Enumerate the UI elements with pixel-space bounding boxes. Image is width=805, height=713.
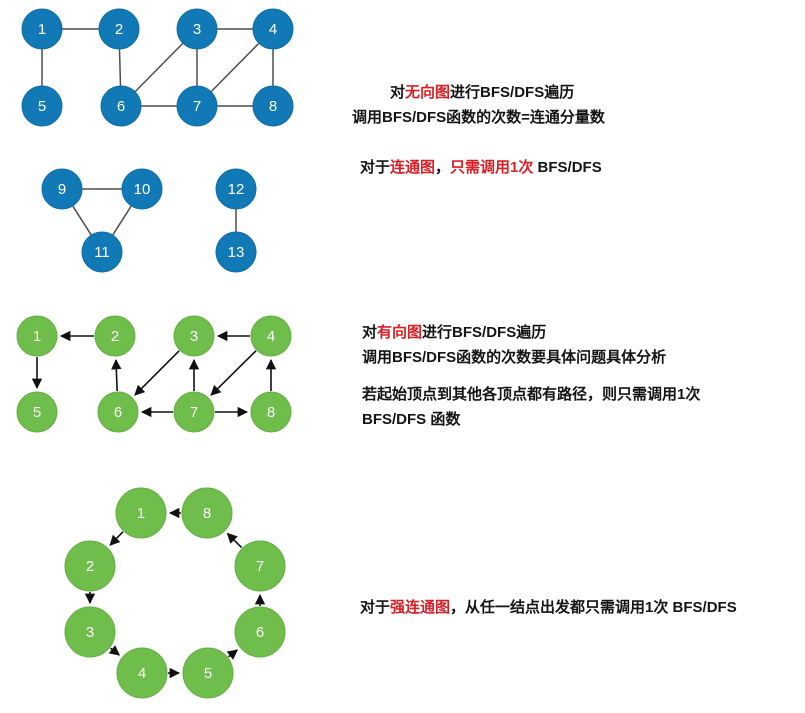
graph-node[interactable]: 4 [253,9,293,49]
note-directed-line1-post: 进行BFS/DFS遍历 [422,324,546,341]
graph-node[interactable]: 2 [99,9,139,49]
graph-node-label: 4 [138,665,146,682]
graph-node[interactable]: 11 [82,232,122,272]
note-directed-line1-highlight: 有向图 [377,324,422,341]
graph-node-label: 8 [203,505,211,522]
graph-edge [116,360,117,391]
graph-node-label: 4 [267,328,275,345]
graph-node-label: 11 [94,244,110,261]
graph-node-label: 10 [134,181,151,198]
graph-node[interactable]: 5 [17,392,57,432]
graph-edge [110,648,119,655]
graph-node-label: 5 [204,665,212,682]
note-connected-post: BFS/DFS [533,159,601,176]
graph-edge [135,351,179,395]
graph-node-label: 2 [115,21,123,38]
graph-node-label: 9 [58,181,66,198]
graph-node[interactable]: 6 [235,607,285,657]
graph-edge [228,534,242,548]
graph-edge [110,532,123,545]
graph-node-label: 6 [117,98,125,115]
graph-node[interactable]: 1 [17,316,57,356]
note-directed-line1: 对有向图进行BFS/DFS遍历 [362,320,666,345]
graph-node[interactable]: 9 [42,169,82,209]
note-connected-highlight-1: 连通图 [390,159,435,176]
slide-canvas: 123456789101112131234567812345678 对无向图进行… [0,0,805,713]
note-directed-line2: 调用BFS/DFS函数的次数要具体问题具体分析 [362,345,666,370]
note-strong-pre: 对于 [360,599,390,616]
graph-node[interactable]: 5 [22,86,62,126]
graph-node-label: 5 [38,98,46,115]
graph-node[interactable]: 3 [65,607,115,657]
graph-node[interactable]: 1 [22,9,62,49]
note-undirected-line1: 对无向图进行BFS/DFS遍历 [352,80,605,105]
graph-node[interactable]: 8 [251,392,291,432]
graph-edge [119,48,120,87]
graph-node-label: 6 [256,624,264,641]
graph-node[interactable]: 13 [216,232,256,272]
graph-node-label: 2 [111,328,119,345]
graph-edge [134,43,183,93]
note-undirected-line1-post: 进行BFS/DFS遍历 [450,84,574,101]
note-connected-graph: 对于连通图，只需调用1次 BFS/DFS [352,155,602,180]
graph-edge [72,205,92,236]
graph-edge [210,43,259,93]
note-strong-highlight: 强连通图 [390,599,450,616]
graph-node[interactable]: 1 [116,488,166,538]
graph-node-label: 4 [269,21,277,38]
note-strongly-connected: 对于强连通图，从任一结点出发都只需调用1次 BFS/DFS [352,595,737,620]
graph-node[interactable]: 2 [65,541,115,591]
note-directed-single-call: 若起始顶点到其他各顶点都有路径，则只需调用1次 BFS/DFS 函数 [352,382,700,432]
graph-node-label: 3 [193,21,201,38]
note-connected-comma: ， [435,159,450,176]
graph-node[interactable]: 4 [251,316,291,356]
graph-node[interactable]: 6 [101,86,141,126]
graph-node[interactable]: 2 [95,316,135,356]
graph-node[interactable]: 7 [177,86,217,126]
graph-node-label: 1 [38,21,46,38]
graph-node-label: 7 [256,558,264,575]
graph-node-label: 8 [267,404,275,421]
graph-node-label: 8 [269,98,277,115]
graph-node[interactable]: 7 [235,541,285,591]
graph-node[interactable]: 8 [182,488,232,538]
graph-node-label: 1 [137,505,145,522]
graph-node-label: 12 [228,181,245,198]
note-directed2-line1: 若起始顶点到其他各顶点都有路径，则只需调用1次 [362,382,700,407]
note-directed2-line2: BFS/DFS 函数 [362,407,700,432]
note-undirected-line1-highlight: 无向图 [405,84,450,101]
graph-node[interactable]: 8 [253,86,293,126]
graph-node-label: 7 [190,404,198,421]
graph-node[interactable]: 4 [117,648,167,698]
graph-node[interactable]: 3 [174,316,214,356]
note-undirected-line2: 调用BFS/DFS函数的次数=连通分量数 [352,105,605,130]
note-strong-post: ，从任一结点出发都只需调用1次 BFS/DFS [450,599,737,616]
graph-node-label: 13 [228,244,245,261]
note-undirected-line1-pre: 对 [390,84,405,101]
graph-node[interactable]: 6 [98,392,138,432]
graph-node-label: 3 [190,328,198,345]
graph-edge [228,650,237,657]
graph-node[interactable]: 3 [177,9,217,49]
note-connected-pre: 对于 [360,159,390,176]
graph-nodes: 123456789101112131234567812345678 [17,9,293,698]
note-directed-line1-pre: 对 [362,324,377,341]
note-connected-highlight-2: 只需调用1次 [450,159,533,176]
graph-node-label: 5 [33,404,41,421]
graph-node-label: 3 [86,624,94,641]
graph-node[interactable]: 7 [174,392,214,432]
graph-edge [211,351,256,395]
graph-node[interactable]: 12 [216,169,256,209]
graph-node-label: 6 [114,404,122,421]
graph-node-label: 1 [33,328,41,345]
graph-node-label: 7 [193,98,201,115]
graph-edge [112,205,132,236]
note-directed-traversal: 对有向图进行BFS/DFS遍历 调用BFS/DFS函数的次数要具体问题具体分析 [352,320,666,370]
graph-node[interactable]: 5 [183,648,233,698]
note-undirected-traversal: 对无向图进行BFS/DFS遍历 调用BFS/DFS函数的次数=连通分量数 [352,80,605,130]
graph-node[interactable]: 10 [122,169,162,209]
graph-node-label: 2 [86,558,94,575]
